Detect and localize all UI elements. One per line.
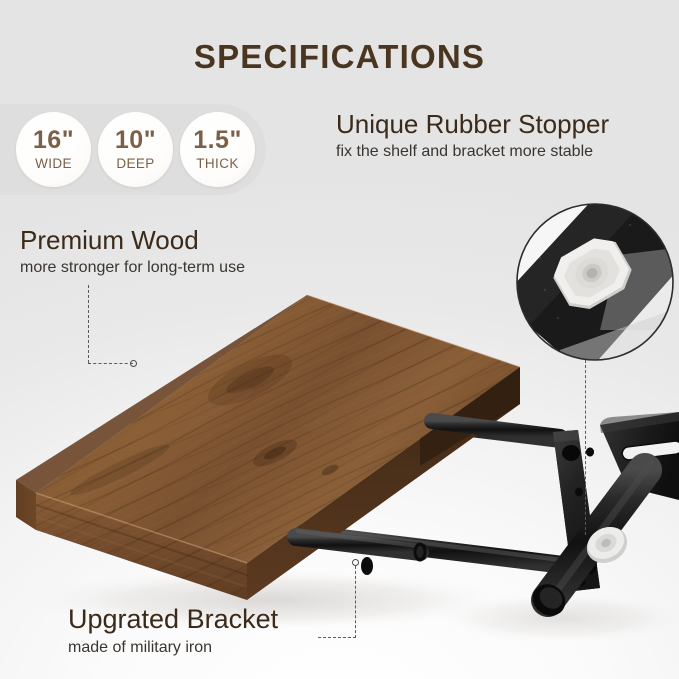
callout-heading: Upgrated Bracket <box>68 605 278 635</box>
callout-heading: Unique Rubber Stopper <box>336 110 609 139</box>
specification-infographic: SPECIFICATIONS 16" WIDE 10" DEEP 1.5" TH… <box>0 0 679 679</box>
callout-premium-wood: Premium Wood more stronger for long-term… <box>20 226 245 277</box>
callout-rubber-stopper: Unique Rubber Stopper fix the shelf and … <box>336 110 609 161</box>
wood-shelf <box>0 280 560 615</box>
leader-wood-vertical <box>88 285 89 363</box>
rubber-stopper-inset <box>500 170 679 375</box>
product-illustration <box>0 0 679 679</box>
leader-bracket-horizontal <box>318 637 356 638</box>
callout-subtext: more stronger for long-term use <box>20 258 245 277</box>
leader-wood-endpoint <box>130 360 137 367</box>
callout-subtext: made of military iron <box>68 638 278 657</box>
callout-subtext: fix the shelf and bracket more stable <box>336 142 609 161</box>
callout-heading: Premium Wood <box>20 226 245 255</box>
leader-bracket-vertical <box>355 566 356 638</box>
callout-upgraded-bracket: Upgrated Bracket made of military iron <box>68 605 278 657</box>
leader-bracket-endpoint <box>352 559 359 566</box>
leader-stopper-vertical <box>585 360 586 535</box>
leader-wood-horizontal <box>88 363 133 364</box>
